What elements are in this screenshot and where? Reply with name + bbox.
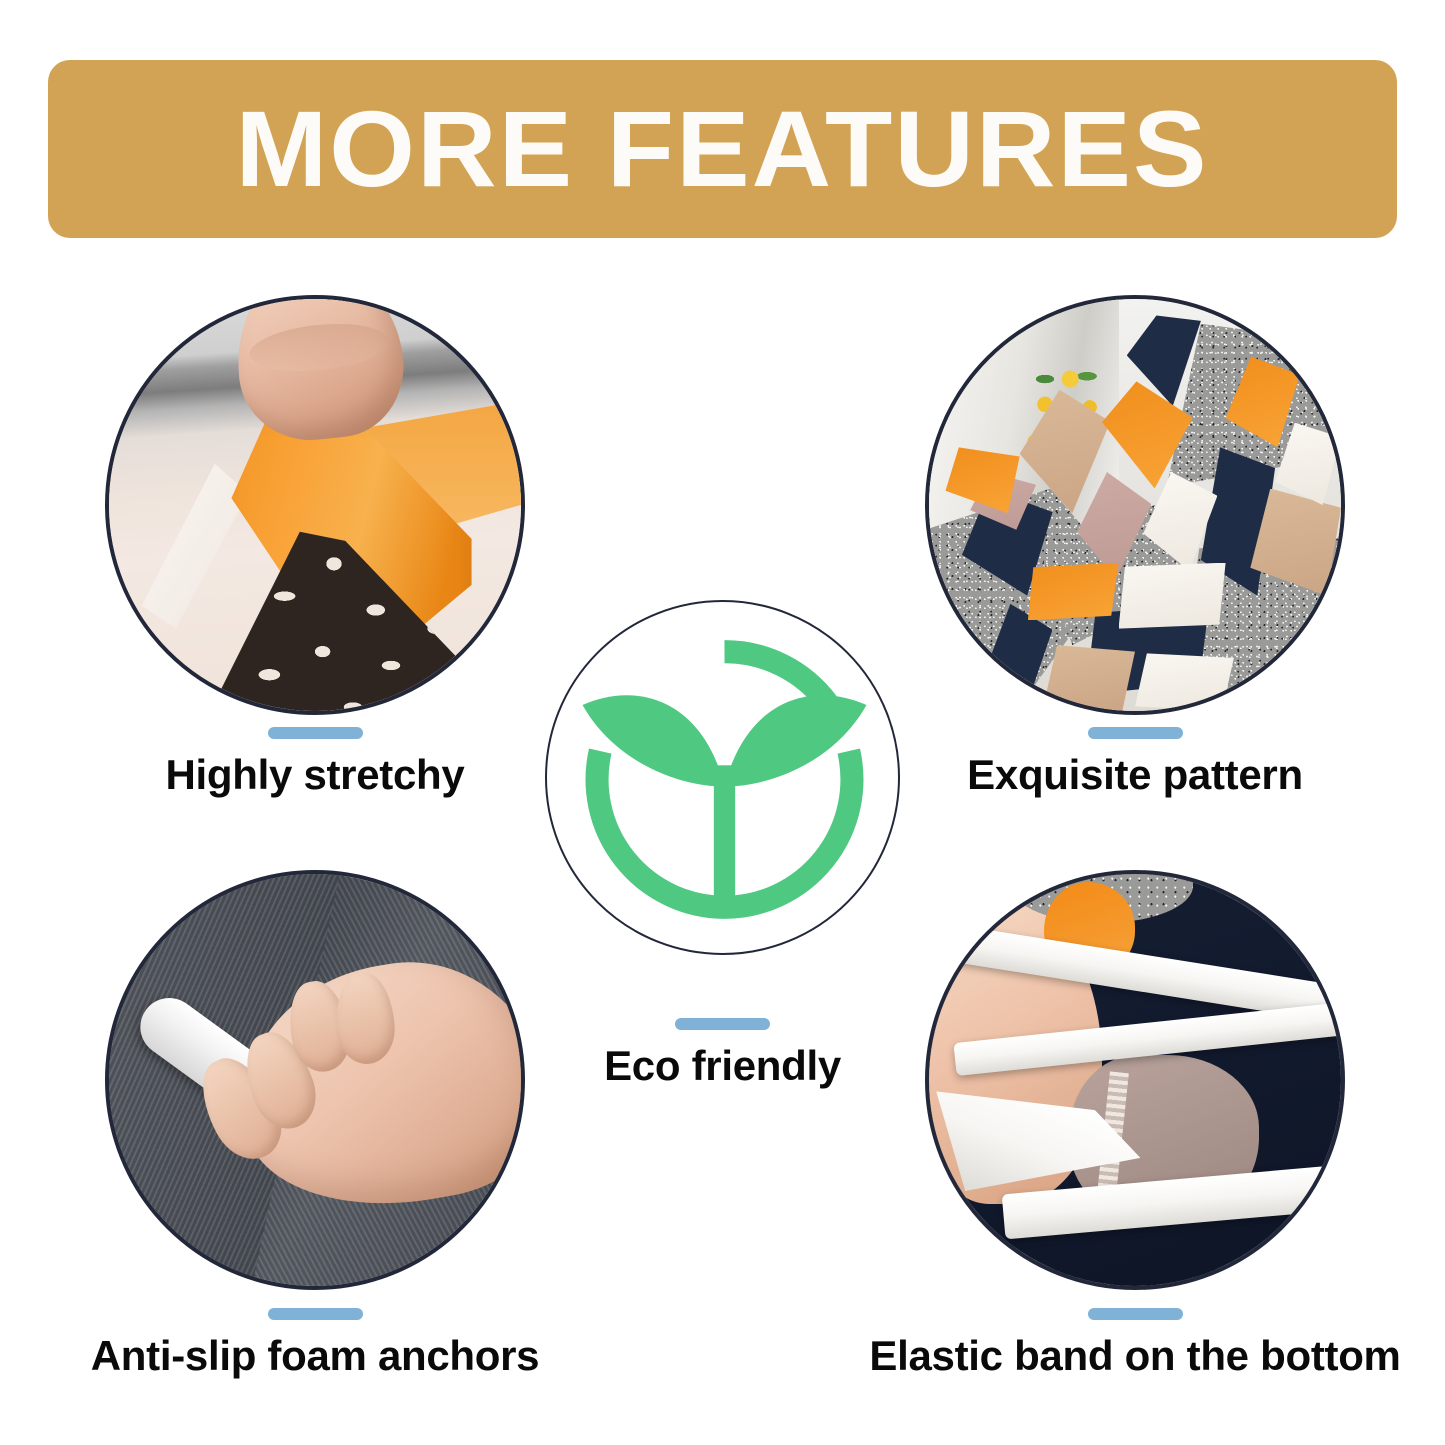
accent-pill-icon: [268, 727, 363, 739]
accent-pill-icon: [1088, 1308, 1183, 1320]
feature-highly-stretchy: Highly stretchy: [105, 295, 525, 790]
eco-sprout-icon: [547, 602, 900, 955]
elastic-band-photo: [925, 870, 1345, 1290]
caption-elastic-band-bottom: Elastic band on the bottom: [925, 1308, 1345, 1378]
feature-label: Elastic band on the bottom: [869, 1334, 1400, 1378]
feature-label: Eco friendly: [604, 1044, 841, 1088]
orange-panel-shape: [1028, 563, 1119, 621]
page-title: MORE FEATURES: [236, 95, 1209, 203]
feature-label: Exquisite pattern: [967, 753, 1303, 797]
cream-panel-shape: [1135, 653, 1234, 711]
elastic-band-image: [929, 874, 1341, 1286]
tan-panel-shape: [1044, 645, 1135, 711]
geometric-sofa-photo: [925, 295, 1345, 715]
feature-elastic-band-bottom: Elastic band on the bottom: [925, 870, 1345, 1370]
caption-anti-slip-foam-anchors: Anti-slip foam anchors: [105, 1308, 525, 1378]
accent-pill-icon: [268, 1308, 363, 1320]
feature-exquisite-pattern: Exquisite pattern: [925, 295, 1345, 790]
accent-pill-icon: [1088, 727, 1183, 739]
foam-anchor-image: [109, 874, 521, 1286]
hand-shape: [228, 295, 410, 447]
feature-label: Anti-slip foam anchors: [91, 1334, 539, 1378]
caption-eco-friendly: Eco friendly: [545, 1018, 900, 1088]
feature-label: Highly stretchy: [166, 753, 465, 797]
accent-pill-icon: [675, 1018, 770, 1030]
stretchy-fabric-photo: [105, 295, 525, 715]
caption-exquisite-pattern: Exquisite pattern: [925, 727, 1345, 797]
geometric-sofa-image: [929, 299, 1341, 711]
feature-eco-friendly: Eco friendly: [545, 600, 900, 1100]
eco-friendly-badge: [545, 600, 900, 955]
stretchy-fabric-image: [109, 299, 521, 711]
header-banner: MORE FEATURES: [48, 60, 1397, 238]
caption-highly-stretchy: Highly stretchy: [105, 727, 525, 797]
foam-anchor-photo: [105, 870, 525, 1290]
feature-anti-slip-foam-anchors: Anti-slip foam anchors: [105, 870, 525, 1370]
cream-panel-shape: [1119, 563, 1226, 629]
